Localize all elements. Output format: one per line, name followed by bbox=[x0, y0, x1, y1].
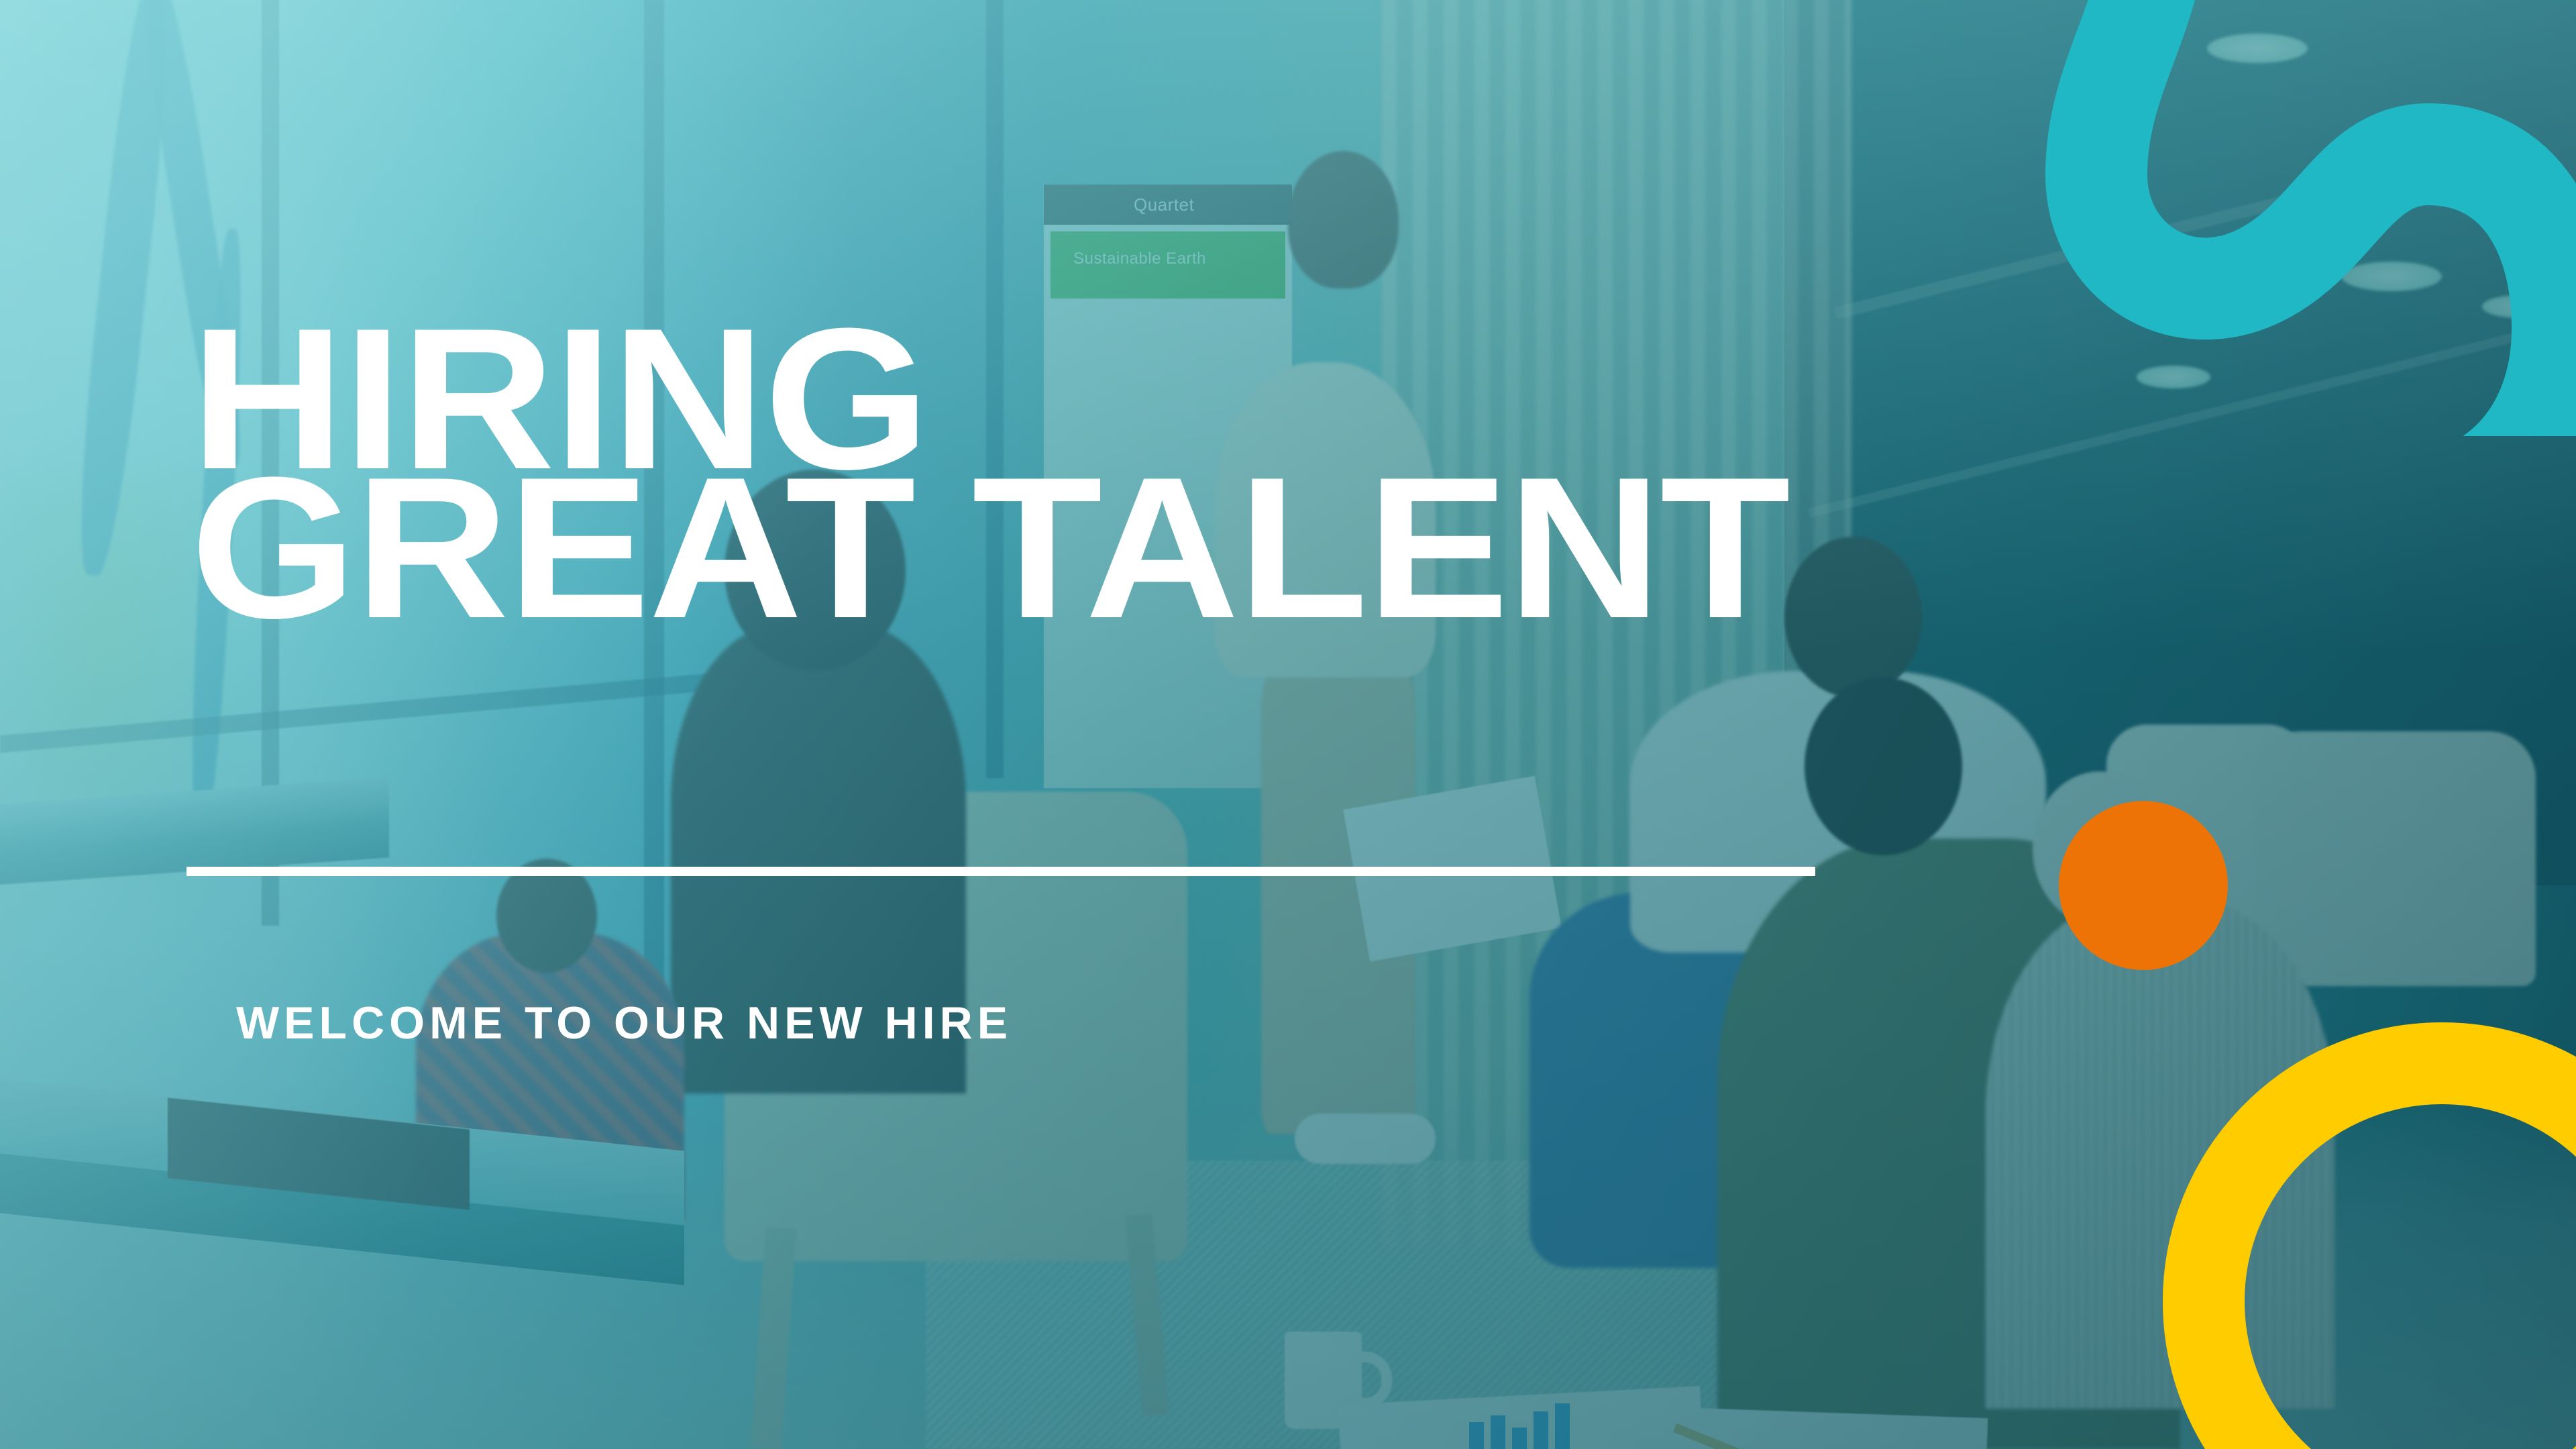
subtitle-text: WELCOME TO OUR NEW HIRE bbox=[236, 997, 1012, 1049]
banner-content: HIRING GREAT TALENT WELCOME TO OUR NEW H… bbox=[0, 0, 2576, 1449]
hiring-banner: Quartet Sustainable Earth bbox=[0, 0, 2576, 1449]
divider-rule bbox=[186, 867, 1815, 876]
headline-line-2: GREAT TALENT bbox=[191, 463, 1789, 632]
